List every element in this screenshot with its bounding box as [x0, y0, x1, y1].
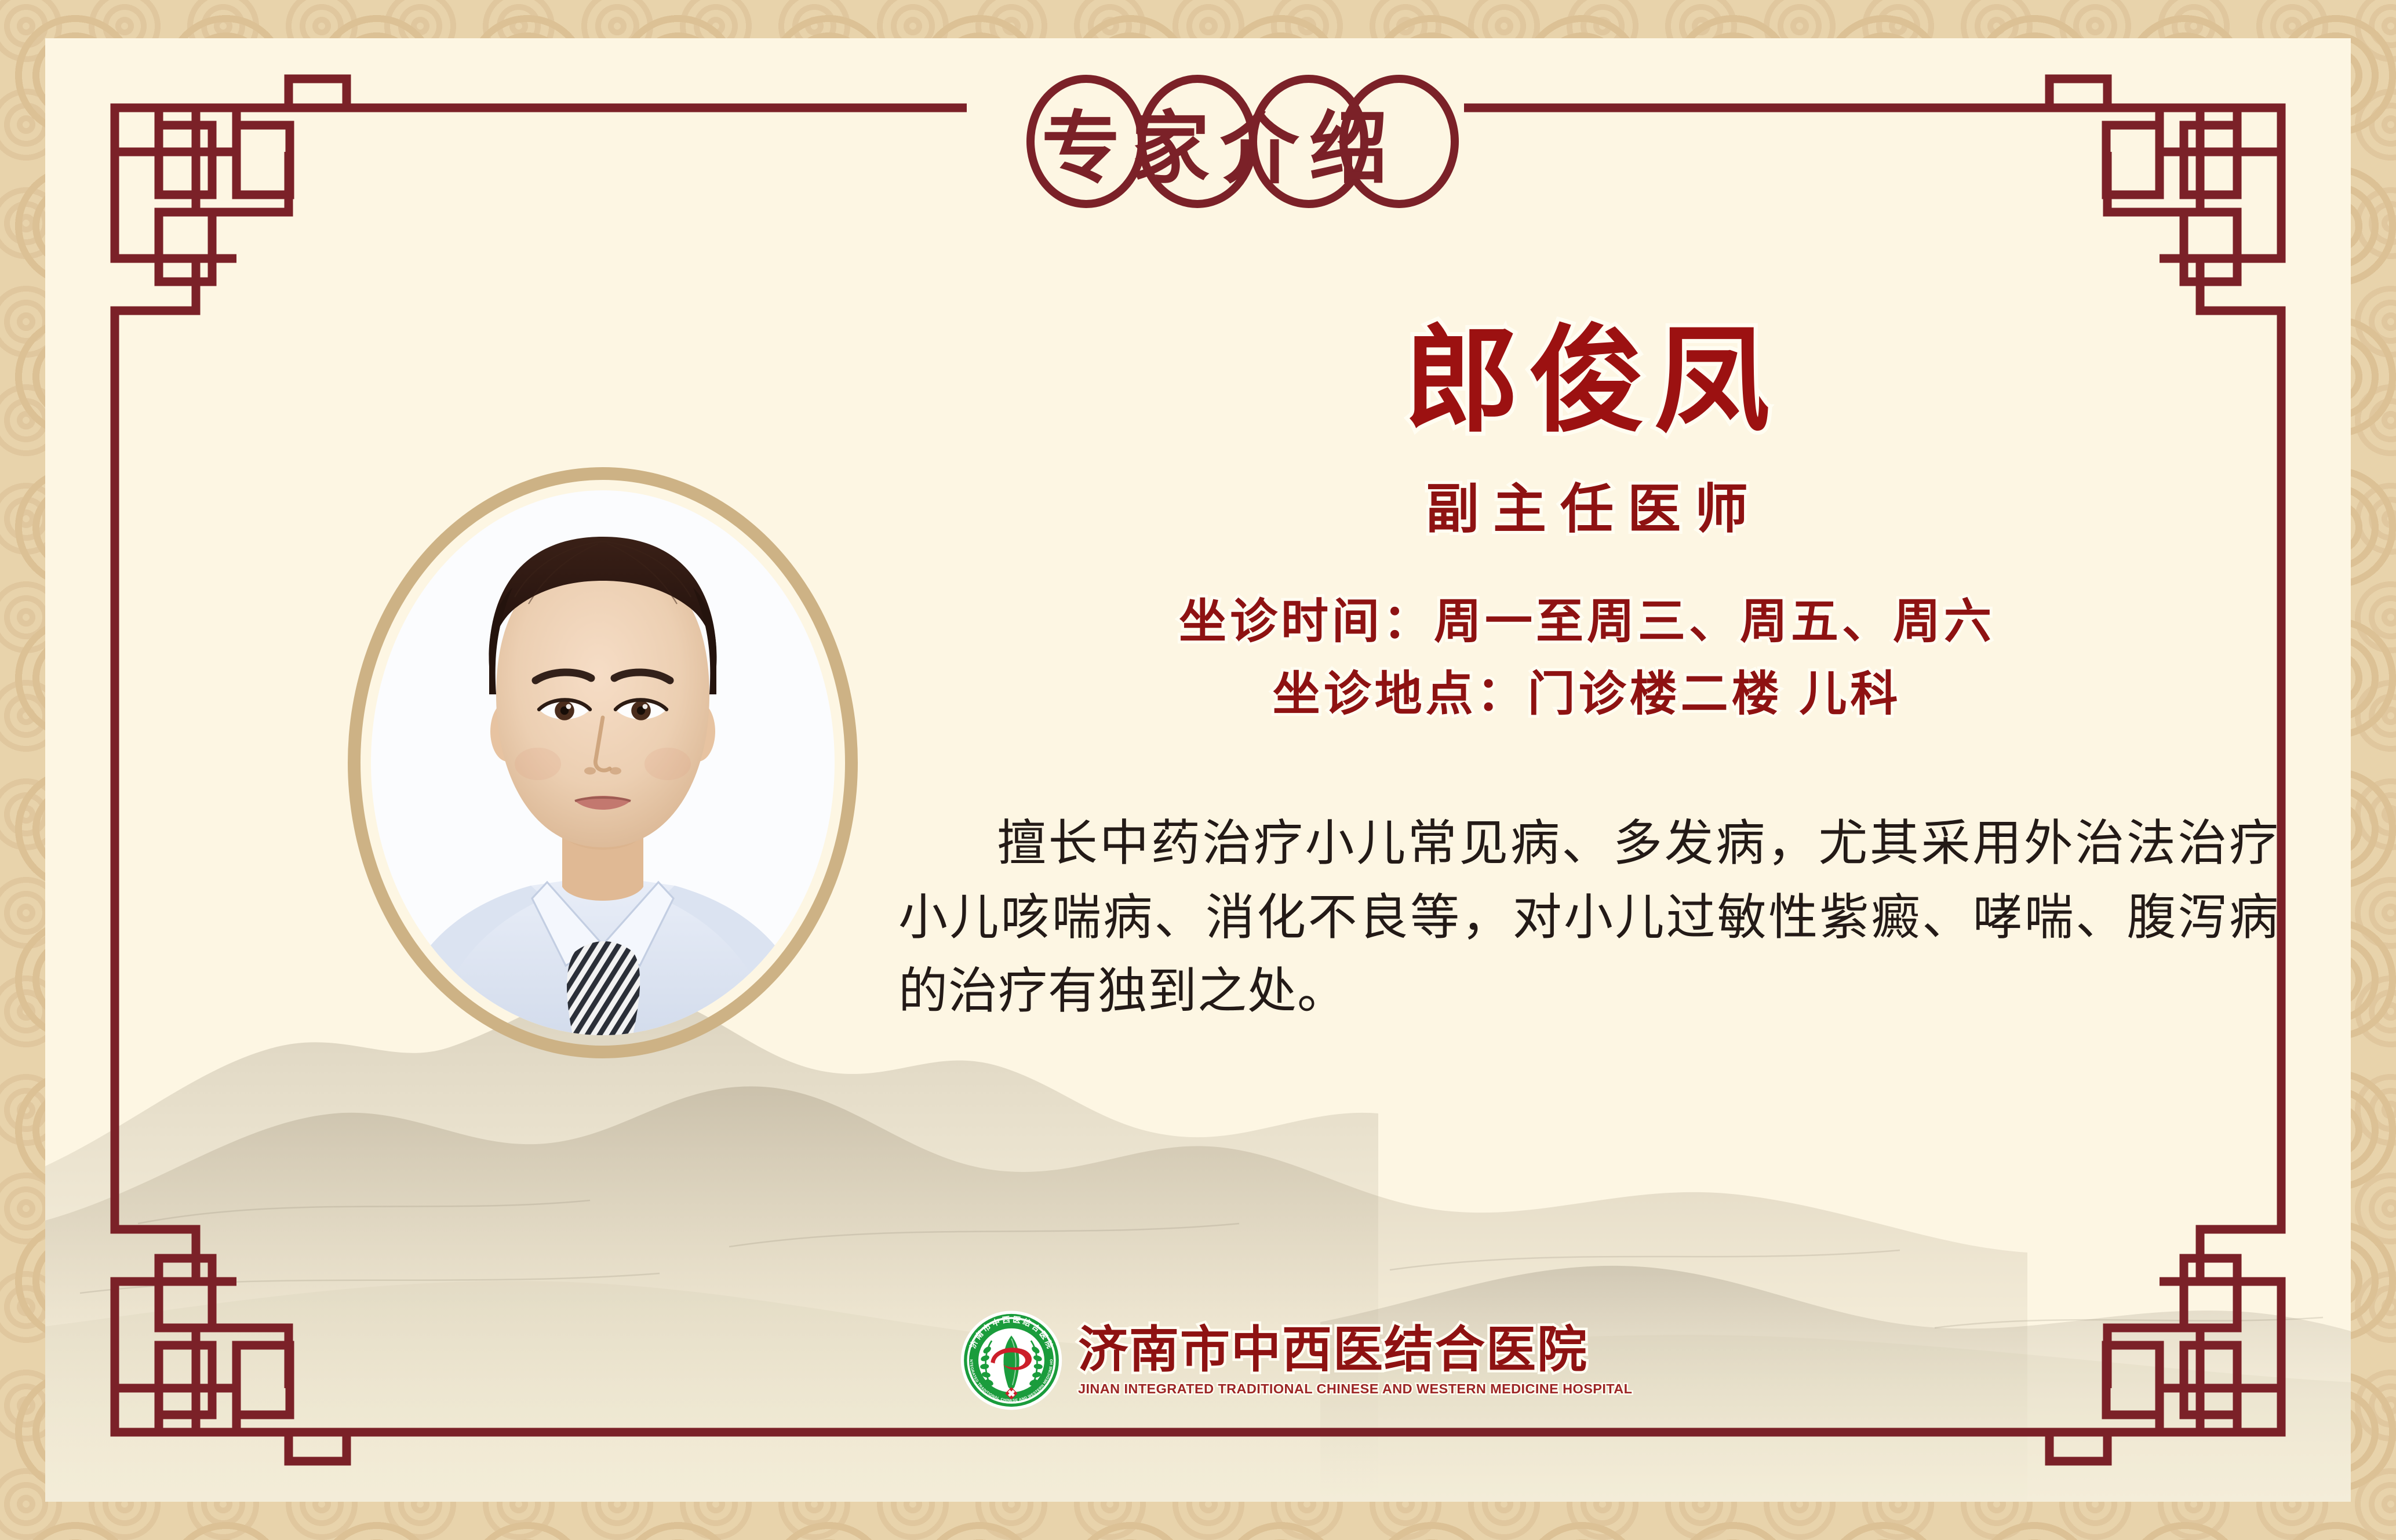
- poster-title-badge: 专家介绍: [966, 60, 1464, 223]
- hospital-name-english: JINAN INTEGRATED TRADITIONAL CHINESE AND…: [1078, 1381, 1632, 1397]
- hospital-logo: 济 南 市 中 西 医 结 合 医 院 JINAN INTEGRATED TRA…: [960, 1309, 1632, 1412]
- doctor-info-column: 郎俊凤 副主任医师 坐诊时间：周一至周三、周五、周六 坐诊地点：门诊楼二楼 儿科…: [886, 316, 2288, 1029]
- hospital-emblem-icon: 济 南 市 中 西 医 结 合 医 院 JINAN INTEGRATED TRA…: [960, 1309, 1063, 1412]
- doctor-name: 郎俊凤: [886, 316, 2288, 446]
- expert-introduction-poster: 专家介绍: [0, 0, 2396, 1540]
- avatar: [371, 490, 835, 1035]
- doctor-portrait-illustration: [371, 490, 835, 1035]
- hospital-name-chinese: 济南市中西医结合医院: [1078, 1324, 1632, 1377]
- schedule-time: 坐诊时间：周一至周三、周五、周六: [886, 586, 2288, 658]
- page-title: 专家介绍: [966, 60, 1464, 223]
- schedule-location: 坐诊地点：门诊楼二楼 儿科: [886, 658, 2288, 731]
- hospital-name-block: 济南市中西医结合医院 JINAN INTEGRATED TRADITIONAL …: [1078, 1324, 1632, 1397]
- doctor-portrait-container: [330, 438, 875, 1087]
- doctor-biography: 擅长中药治疗小儿常见病、多发病，尤其采用外治法治疗小儿咳喘病、消化不良等，对小儿…: [886, 807, 2288, 1029]
- doctor-professional-title: 副主任医师: [886, 466, 2288, 543]
- poster-inner-panel: 专家介绍: [45, 38, 2351, 1502]
